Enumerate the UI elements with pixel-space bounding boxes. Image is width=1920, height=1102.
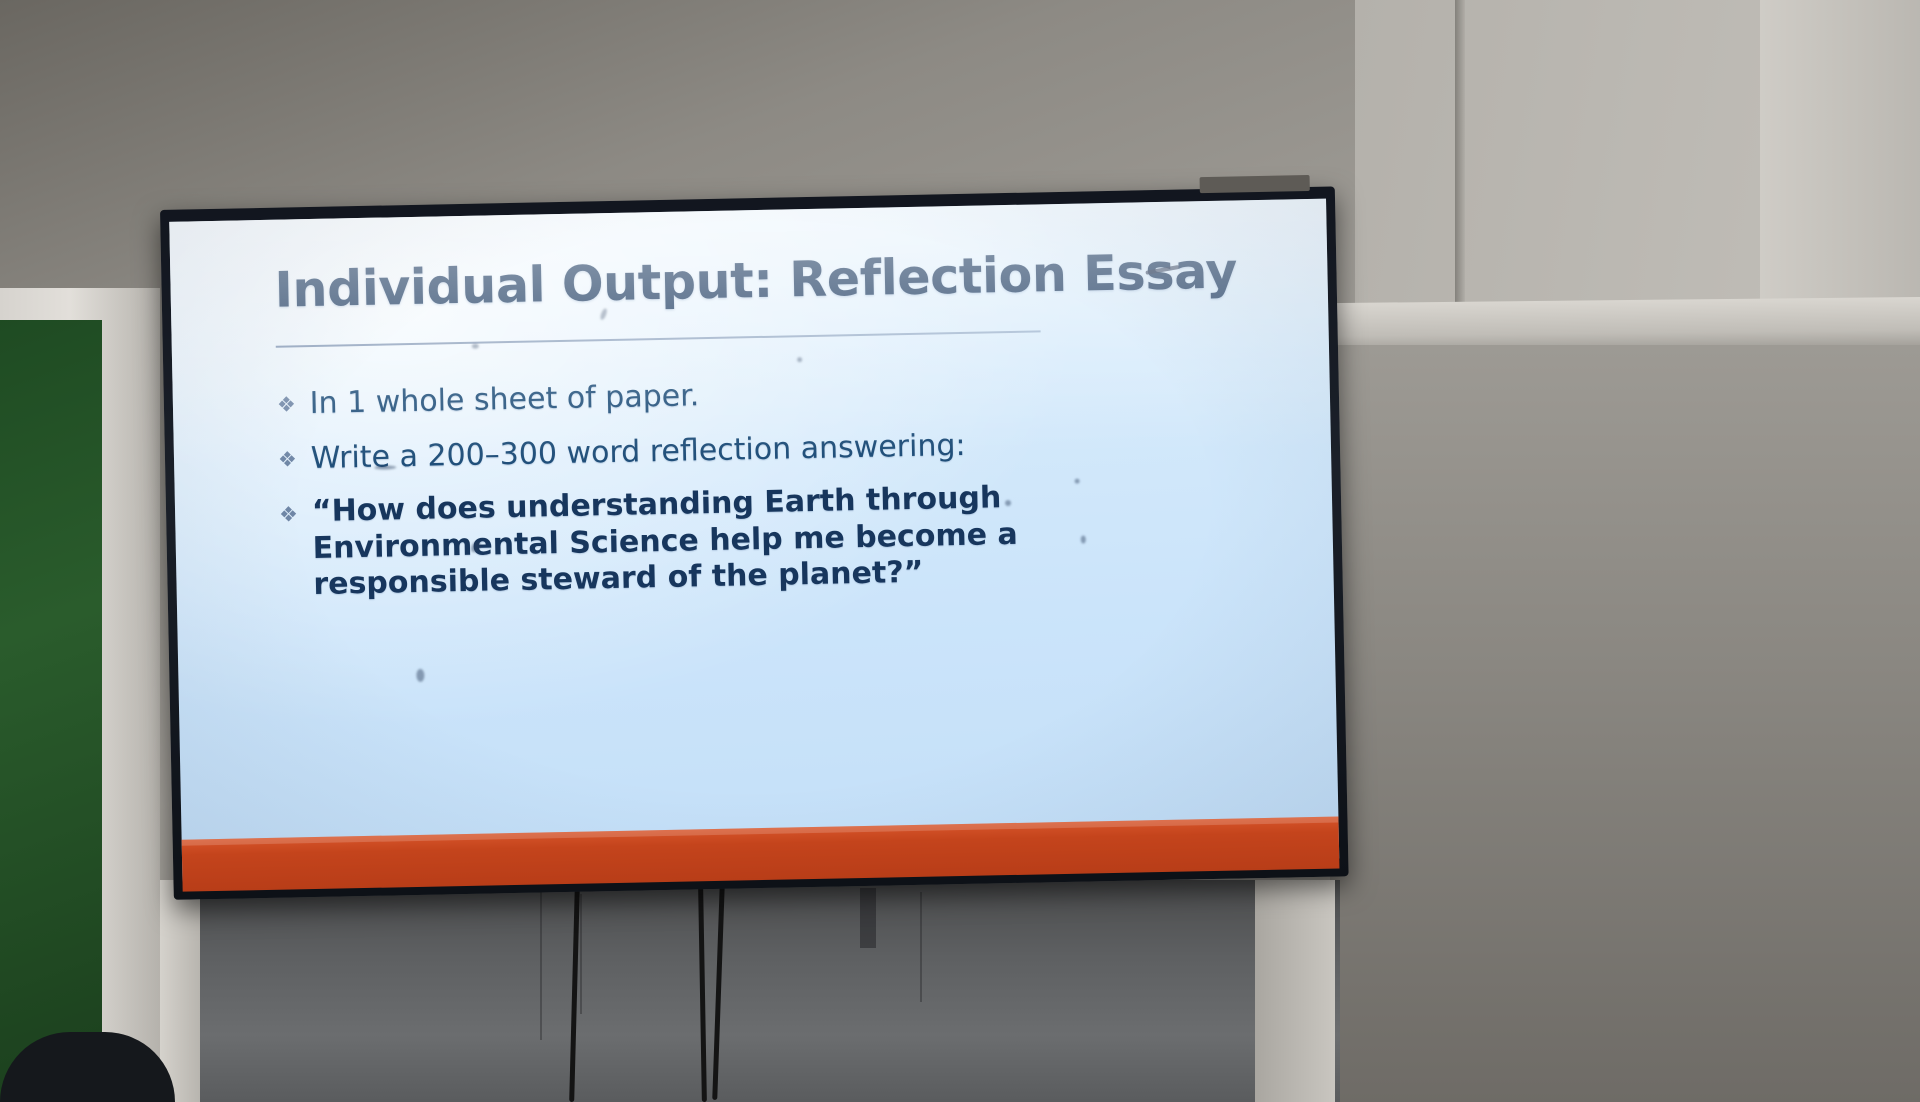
wall-streak bbox=[540, 890, 542, 1040]
classroom-photo-scene: Individual Output: Reflection Essay ❖ In… bbox=[0, 0, 1920, 1102]
television-screen: Individual Output: Reflection Essay ❖ In… bbox=[169, 199, 1339, 882]
list-item: ❖ Write a 200–300 word reflection answer… bbox=[278, 420, 1279, 479]
slide-bullet-list: ❖ In 1 whole sheet of paper. ❖ Write a 2… bbox=[277, 365, 1282, 621]
slide-title: Individual Output: Reflection Essay bbox=[274, 243, 1205, 319]
television-top-mount bbox=[1200, 175, 1310, 193]
list-item-question: ❖ “How does understanding Earth through … bbox=[279, 475, 1281, 605]
hanging-cable bbox=[698, 886, 707, 1102]
wall-streak bbox=[920, 892, 922, 1002]
list-item-label: In 1 whole sheet of paper. bbox=[309, 376, 699, 423]
title-divider-rule bbox=[276, 330, 1041, 347]
wall-seam bbox=[1455, 0, 1465, 340]
wall-below-television bbox=[160, 880, 1340, 1102]
wall-stain bbox=[860, 888, 876, 948]
diamond-bullet-icon: ❖ bbox=[277, 384, 297, 420]
reflection-question-text: “How does understanding Earth through En… bbox=[312, 478, 1104, 604]
right-pillar bbox=[1760, 0, 1920, 330]
wall-streak bbox=[580, 894, 582, 1014]
screen-speck bbox=[797, 357, 802, 362]
wall-mounted-television: Individual Output: Reflection Essay ❖ In… bbox=[160, 186, 1349, 899]
diamond-bullet-icon: ❖ bbox=[278, 439, 298, 475]
list-item-label: Write a 200–300 word reflection answerin… bbox=[310, 426, 965, 478]
right-wall-post bbox=[1255, 880, 1335, 1102]
hanging-cable bbox=[569, 886, 580, 1102]
hanging-cable bbox=[712, 884, 725, 1100]
list-item: ❖ In 1 whole sheet of paper. bbox=[277, 365, 1278, 424]
green-chalkboard bbox=[0, 320, 102, 1102]
diamond-bullet-icon: ❖ bbox=[279, 494, 299, 530]
screen-speck bbox=[472, 344, 479, 349]
screen-speck bbox=[416, 669, 424, 682]
lower-right-wall bbox=[1330, 345, 1920, 1102]
